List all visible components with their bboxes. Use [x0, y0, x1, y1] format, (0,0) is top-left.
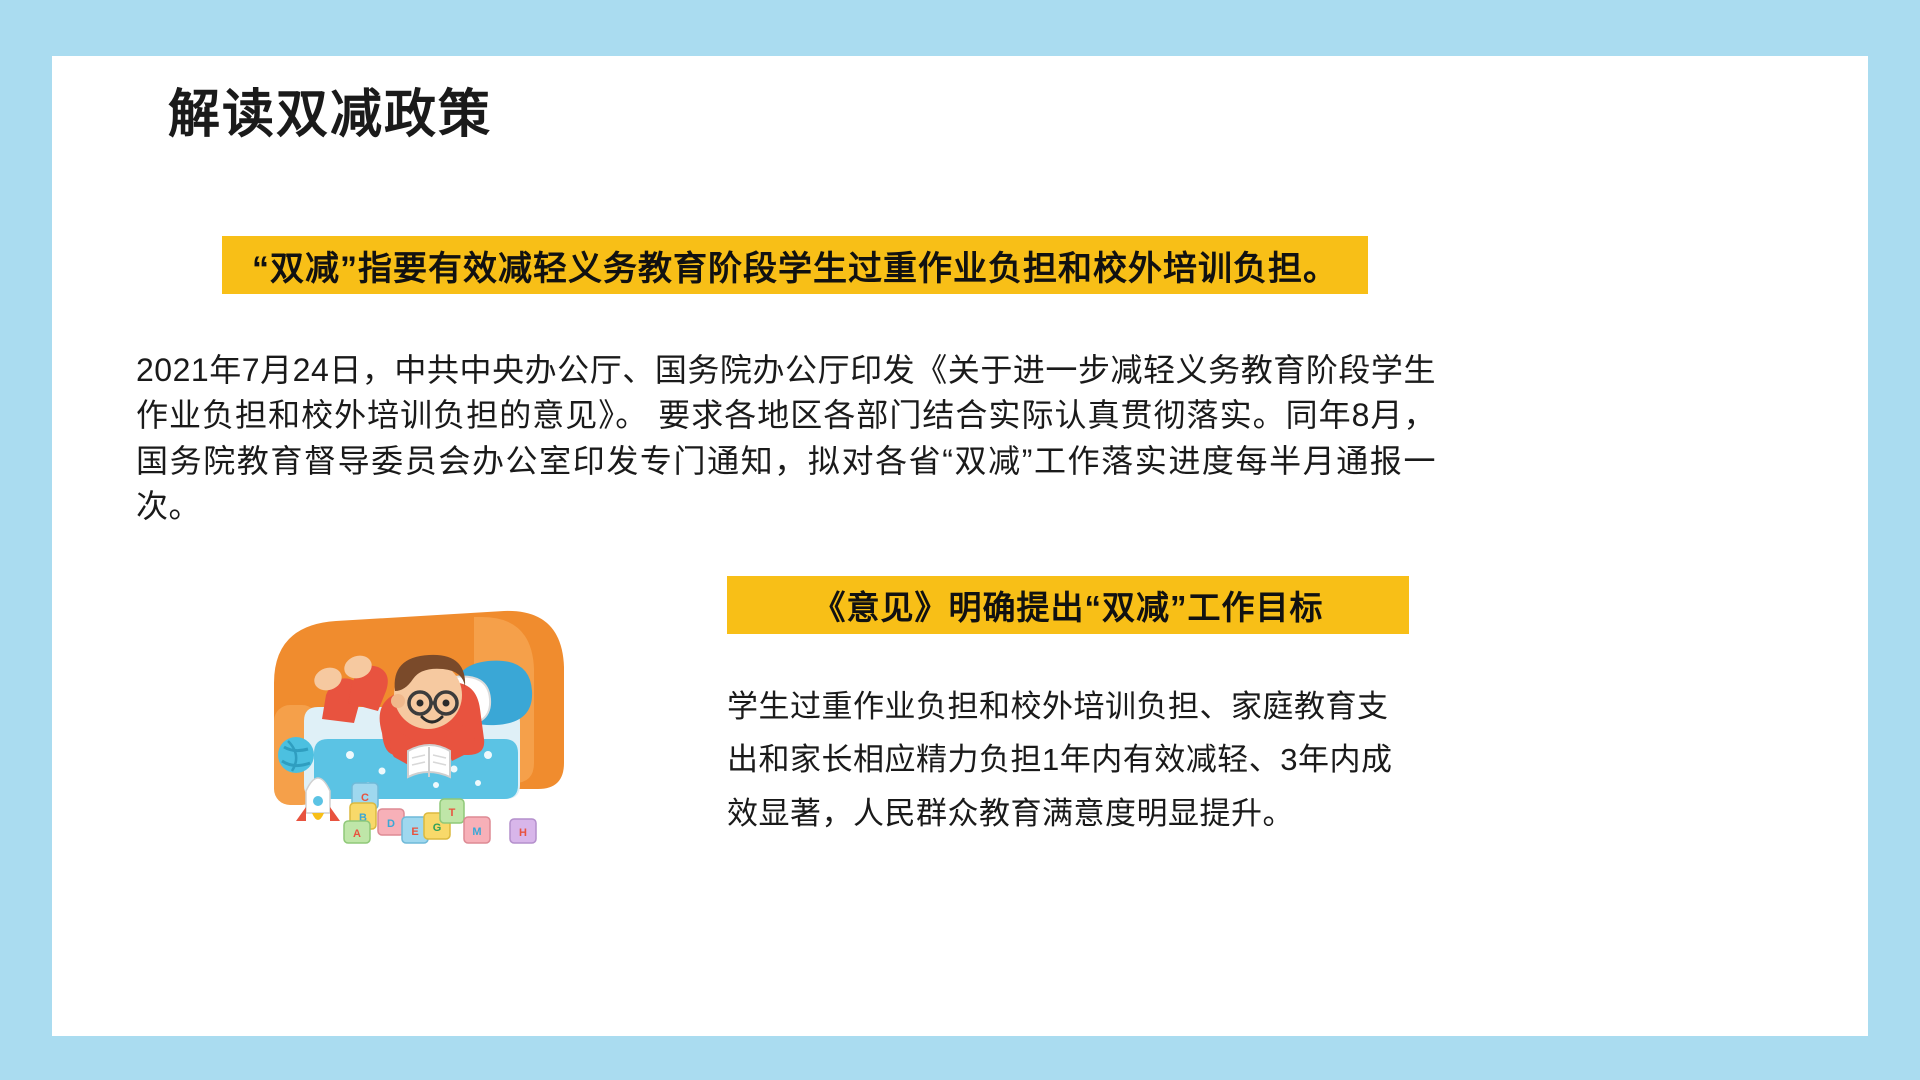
svg-text:C: C: [361, 792, 369, 804]
svg-text:T: T: [449, 807, 456, 819]
globe-icon: [278, 737, 314, 773]
main-definition-banner: “双减”指要有效减轻义务教育阶段学生过重作业负担和校外培训负担。: [222, 236, 1368, 294]
slide-canvas: 解读双减政策 “双减”指要有效减轻义务教育阶段学生过重作业负担和校外培训负担。 …: [0, 0, 1920, 1080]
boy-eye-right: [443, 700, 450, 707]
svg-text:H: H: [519, 827, 527, 839]
goal-description-paragraph: 学生过重作业负担和校外培训负担、家庭教育支出和家长相应精力负担1年内有效减轻、3…: [727, 680, 1417, 840]
svg-text:D: D: [387, 818, 395, 830]
boy-eye-left: [417, 700, 424, 707]
goal-section-banner: 《意见》明确提出“双减”工作目标: [727, 576, 1409, 634]
svg-text:E: E: [411, 826, 418, 838]
svg-text:G: G: [433, 822, 442, 834]
policy-background-paragraph: 2021年7月24日，中共中央办公厅、国务院办公厅印发《关于进一步减轻义务教育阶…: [136, 348, 1436, 530]
svg-text:A: A: [353, 828, 361, 840]
open-book: [408, 745, 450, 777]
svg-text:M: M: [472, 826, 481, 838]
boy-reading-in-bed-illustration: C B A D E G T M H: [232, 555, 652, 845]
slide-content-card: [52, 56, 1868, 1036]
boy-ear: [391, 694, 405, 708]
page-title: 解读双减政策: [168, 72, 492, 147]
